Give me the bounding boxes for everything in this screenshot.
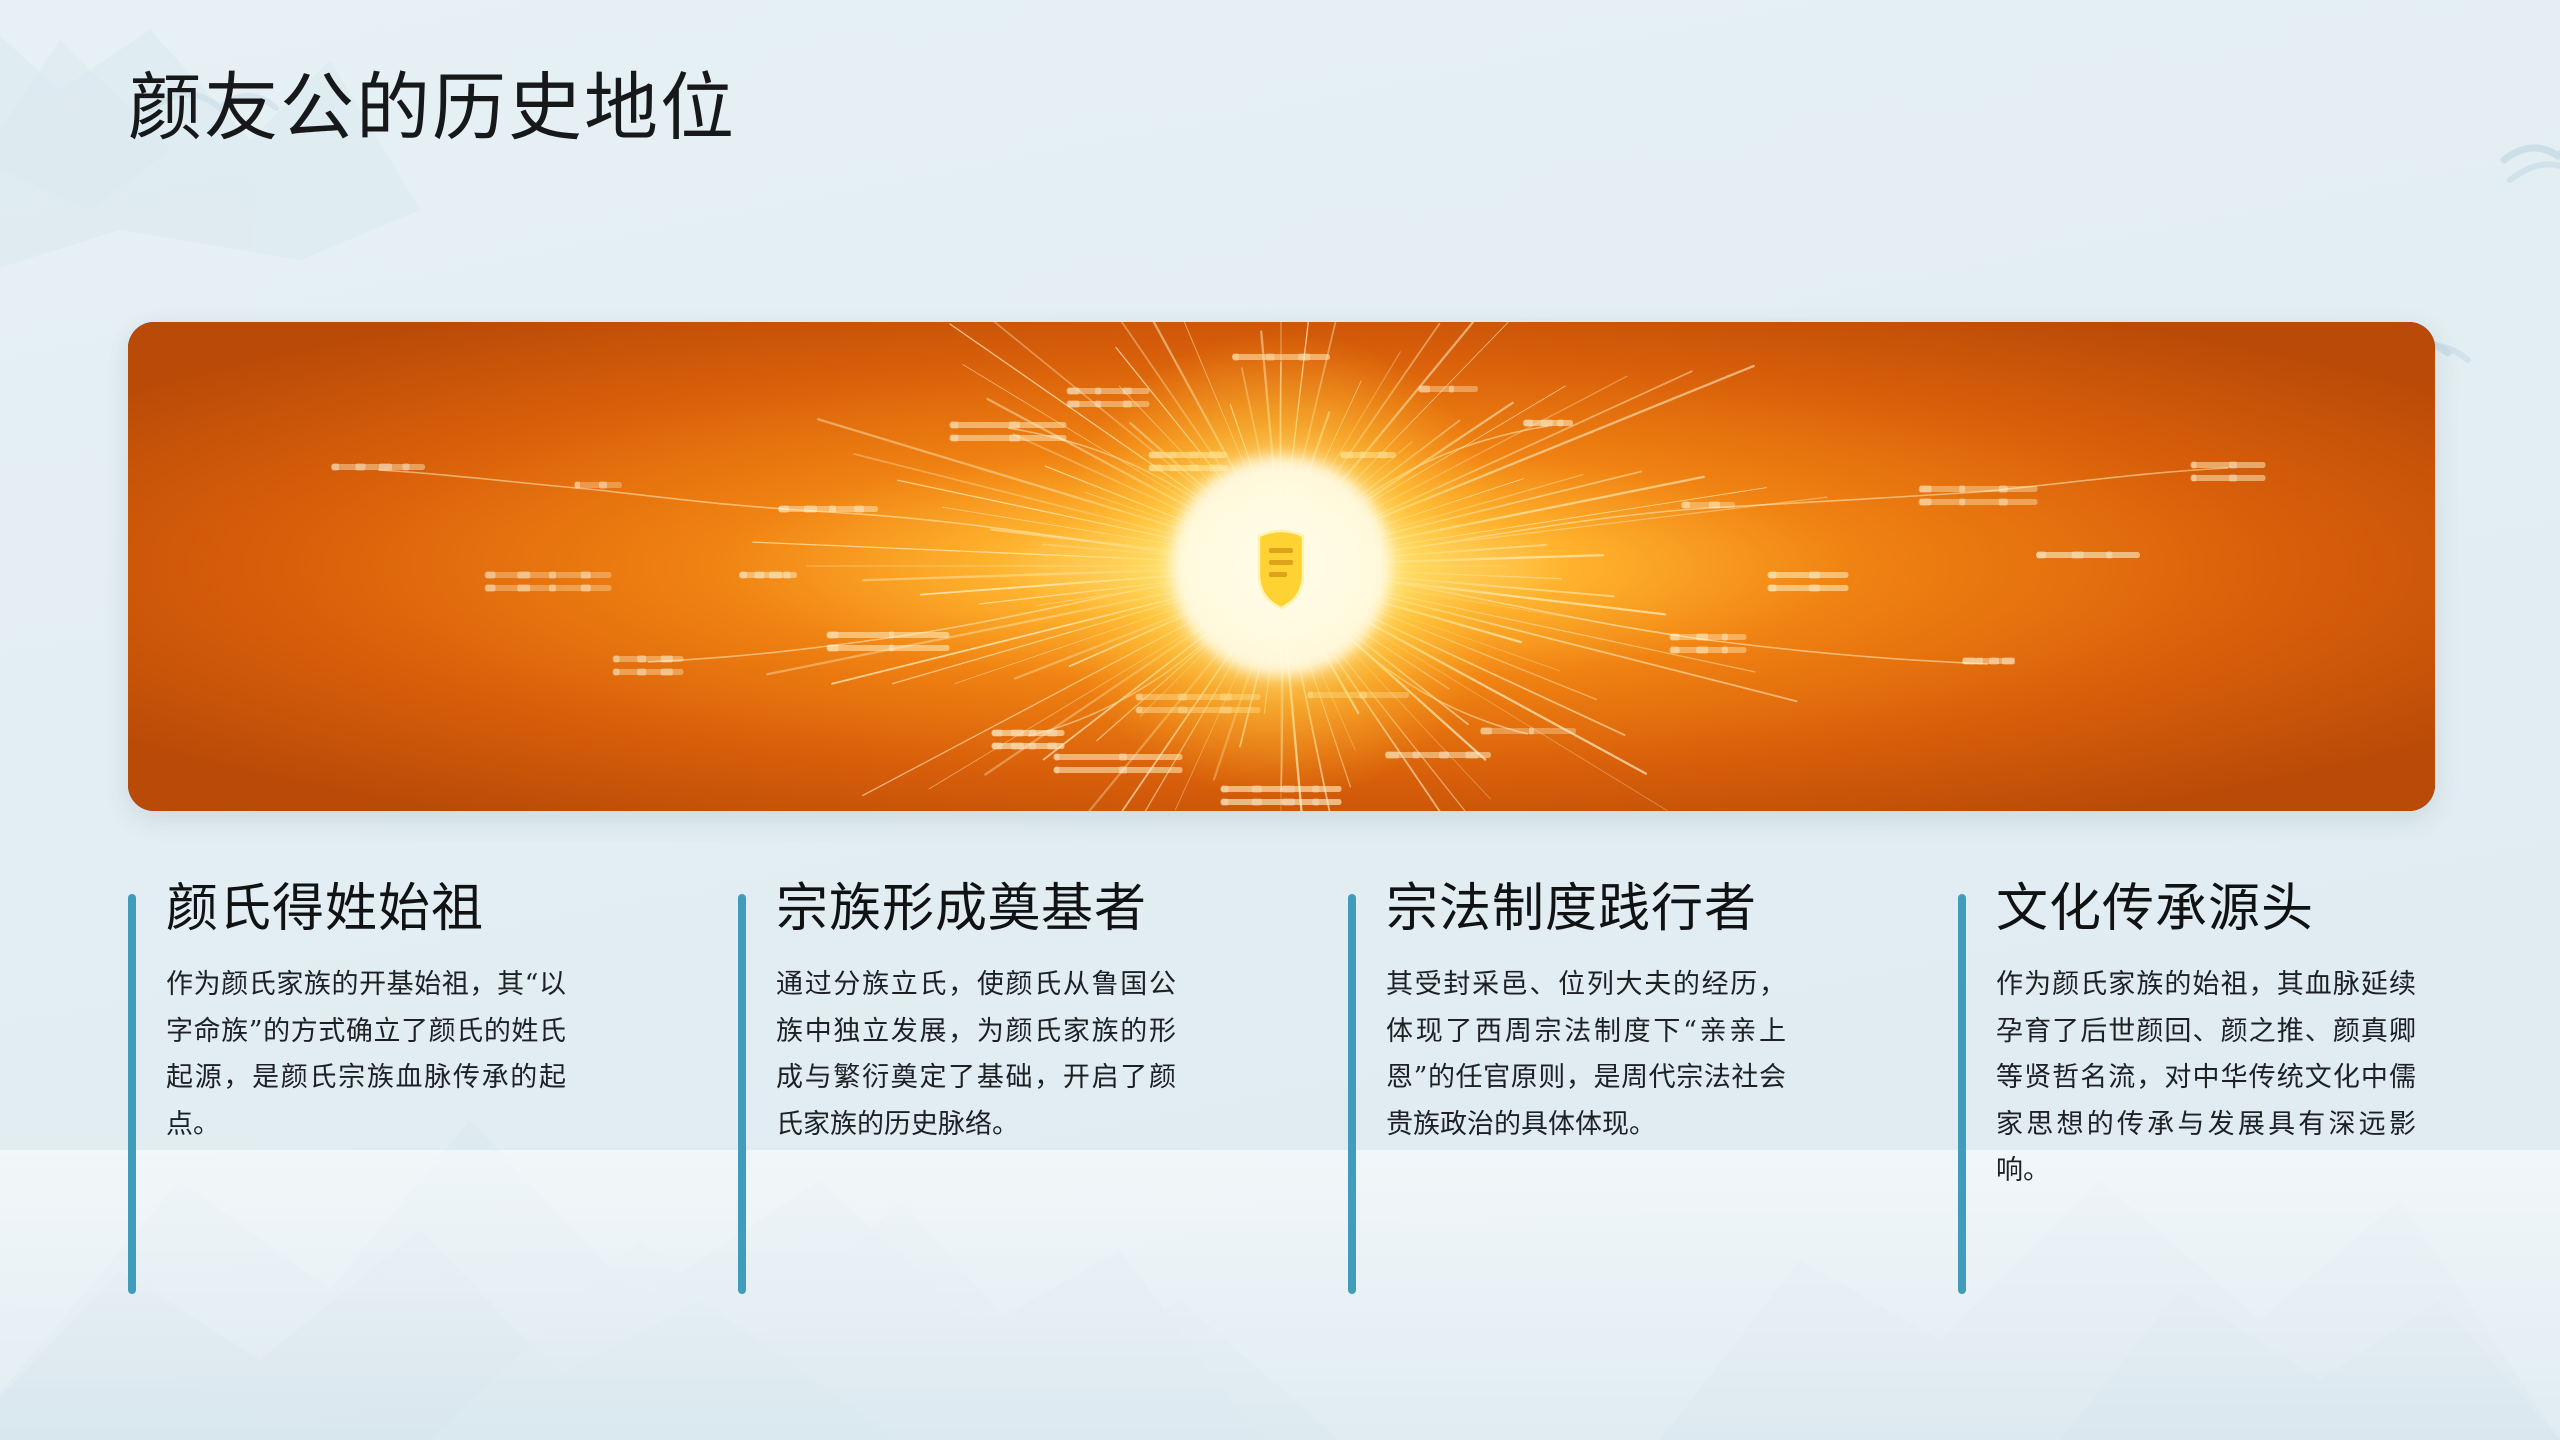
hero-image-card: [128, 322, 2435, 811]
column-body-1: 作为颜氏家族的开基始祖，其“以字命族”的方式确立了颜氏的姓氏起源，是颜氏宗族血脉…: [166, 962, 566, 1148]
feature-column-2: 宗族形成奠基者 通过分族立氏，使颜氏从鲁国公族中独立发展，为颜氏家族的形成与繁衍…: [738, 878, 1348, 1318]
accent-bar-4: [1958, 894, 1966, 1294]
column-heading-2: 宗族形成奠基者: [776, 878, 1348, 940]
foliage-right: [1735, 322, 2435, 811]
column-heading-3: 宗法制度践行者: [1386, 878, 1958, 940]
accent-bar-1: [128, 894, 136, 1294]
accent-bar-2: [738, 894, 746, 1294]
feature-columns: 颜氏得姓始祖 作为颜氏家族的开基始祖，其“以字命族”的方式确立了颜氏的姓氏起源，…: [128, 878, 2435, 1318]
page-title: 颜友公的历史地位: [128, 62, 736, 155]
column-body-2: 通过分族立氏，使颜氏从鲁国公族中独立发展，为颜氏家族的形成与繁衍奠定了基础，开启…: [776, 962, 1176, 1148]
feature-column-4: 文化传承源头 作为颜氏家族的始祖，其血脉延续孕育了后世颜回、颜之推、颜真卿等贤哲…: [1958, 878, 2435, 1318]
column-heading-1: 颜氏得姓始祖: [166, 878, 738, 940]
accent-bar-3: [1348, 894, 1356, 1294]
center-emblem: [1259, 531, 1303, 608]
feature-column-1: 颜氏得姓始祖 作为颜氏家族的开基始祖，其“以字命族”的方式确立了颜氏的姓氏起源，…: [128, 878, 738, 1318]
foliage-left: [128, 322, 828, 811]
column-body-4: 作为颜氏家族的始祖，其血脉延续孕育了后世颜回、颜之推、颜真卿等贤哲名流，对中华传…: [1996, 962, 2416, 1194]
feature-column-3: 宗法制度践行者 其受封采邑、位列大夫的经历，体现了西周宗法制度下“亲亲上恩”的任…: [1348, 878, 1958, 1318]
column-heading-4: 文化传承源头: [1996, 878, 2435, 940]
column-body-3: 其受封采邑、位列大夫的经历，体现了西周宗法制度下“亲亲上恩”的任官原则，是周代宗…: [1386, 962, 1786, 1148]
